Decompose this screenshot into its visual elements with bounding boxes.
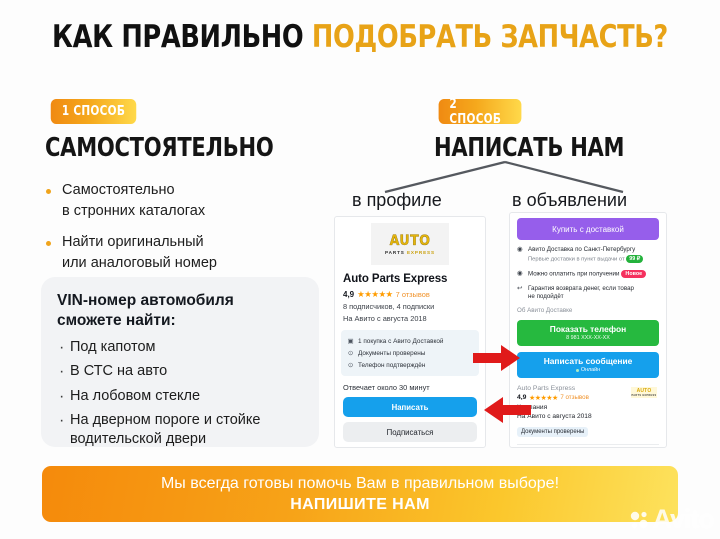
page-title-dark: КАК ПРАВИЛЬНО: [52, 19, 303, 55]
step-2-heading: НАПИСАТЬ НАМ: [434, 133, 624, 163]
trust-badge: ⊙ Телефон подтверждён: [347, 359, 473, 371]
vin-list-item: Под капотом: [57, 338, 303, 357]
reviews-link[interactable]: 7 отзывов: [396, 290, 430, 299]
seller-reviews-link[interactable]: 7 отзывов: [560, 394, 589, 401]
delivery-row: ↩ Гарантия возврата денег, если товар не…: [517, 285, 659, 301]
online-dot-icon: [576, 369, 579, 372]
member-since: На Авито с августа 2018: [343, 314, 485, 323]
ad-screenshot-card: Купить с доставкой ◉ Авито Доставка по С…: [509, 212, 667, 448]
seller-type: Компания: [517, 404, 659, 411]
vin-list-item: В СТС на авто: [57, 362, 303, 381]
rating-value: 4,9: [343, 290, 354, 299]
check-circle-icon: ⊙: [347, 350, 354, 357]
reply-time: Отвечает около 30 минут: [343, 383, 485, 392]
profile-screenshot-card: AUTO PARTS EXPRESS Auto Parts Express 4,…: [334, 216, 486, 448]
delivery-price-pill: 99 ₽: [626, 255, 643, 263]
arrow-right-icon-top: [473, 344, 521, 372]
vin-list-item: На лобовом стекле: [57, 387, 303, 406]
step-1-heading: САМОСТОЯТЕЛЬНО: [45, 133, 274, 163]
documents-verified-chip: Документы проверены: [517, 427, 588, 437]
show-phone-button[interactable]: Показать телефон 8 981 XXX-XX-XX: [517, 320, 659, 346]
about-delivery-link[interactable]: Об Авито Доставке: [517, 307, 659, 314]
shop-logo-main: AUTO: [390, 233, 431, 249]
write-button[interactable]: Написать: [343, 397, 477, 417]
trust-badges-panel: ▣ 1 покупка с Авито Доставкой ⊙ Документ…: [341, 330, 479, 376]
bullet-dot: [46, 241, 51, 246]
show-phone-label: Показать телефон: [550, 324, 626, 334]
shop-logo: AUTO PARTS EXPRESS: [371, 223, 449, 265]
seller-logo: AUTO PARTS EXPRESS: [631, 387, 657, 398]
delivery-sub: Первые доставки в пункт выдачи от: [528, 257, 625, 263]
seller-info-block: AUTO PARTS EXPRESS Auto Parts Express 4,…: [517, 385, 659, 448]
vin-info-card: VIN-номер автомобиля сможете найти: Под …: [41, 277, 319, 447]
box-icon: ▣: [347, 338, 354, 345]
cta-line-2: НАПИШИТЕ НАМ: [290, 496, 430, 514]
trust-badge: ⊙ Документы проверены: [347, 347, 473, 359]
send-message-button[interactable]: Написать сообщение Онлайн: [517, 352, 659, 378]
return-icon: ↩: [517, 285, 524, 293]
star-rating-icon: ★★★★★: [357, 289, 393, 299]
delivery-row: ◉ Авито Доставка по Санкт-Петербургу Пер…: [517, 246, 659, 264]
page-title-gold: ПОДОБРАТЬ ЗАПЧАСТЬ?: [312, 19, 668, 55]
delivery-row: ◉ Можно оплатить при полученииНовое: [517, 270, 659, 279]
vin-list-item: На дверном пороге и стойке водительской …: [57, 411, 303, 449]
shop-logo-sub: PARTS EXPRESS: [385, 250, 435, 255]
trust-badge-label: 1 покупка с Авито Доставкой: [358, 338, 443, 345]
new-pill: Новое: [621, 270, 646, 278]
sub-label-profile: в профиле: [352, 190, 442, 211]
wallet-icon: ◉: [517, 270, 524, 278]
step-1-badge: 1 СПОСОБ: [51, 99, 137, 124]
trust-badge-label: Документы проверены: [358, 350, 425, 357]
delivery-label: Авито Доставка по Санкт-Петербургу: [528, 246, 635, 253]
avito-watermark: Avito: [630, 504, 715, 535]
left-bullet-2: Найти оригинальный или аналоговый номер: [62, 232, 217, 273]
cta-banner: Мы всегда готовы помочь Вам в правильном…: [42, 466, 678, 522]
avito-dots-icon: [630, 510, 650, 530]
delivery-label: Можно оплатить при получении: [528, 271, 619, 278]
seller-member-since: На Авито с августа 2018: [517, 413, 659, 420]
subscribe-to-seller-button[interactable]: Подписаться на продавца: [517, 444, 659, 448]
delivery-label: Гарантия возврата денег, если товар не п…: [528, 285, 634, 301]
profile-rating-row: 4,9 ★★★★★ 7 отзывов: [343, 289, 485, 299]
truck-icon: ◉: [517, 246, 524, 254]
avito-wordmark: Avito: [653, 504, 715, 535]
online-status: Онлайн: [576, 367, 600, 373]
cta-line-1: Мы всегда готовы помочь Вам в правильном…: [161, 475, 559, 493]
followers-count: 8 подписчиков, 4 подписки: [343, 302, 485, 311]
poster-canvas: КАК ПРАВИЛЬНО ПОДОБРАТЬ ЗАПЧАСТЬ? 1 СПОС…: [0, 0, 720, 539]
check-circle-icon: ⊙: [347, 362, 354, 369]
phone-number: 8 981 XXX-XX-XX: [566, 335, 610, 341]
page-title: КАК ПРАВИЛЬНО ПОДОБРАТЬ ЗАПЧАСТЬ?: [29, 22, 691, 53]
vin-card-title: VIN-номер автомобиля сможете найти:: [57, 291, 303, 331]
shop-logo-sub-left: PARTS: [385, 250, 405, 255]
bullet-dot: [46, 189, 51, 194]
star-rating-icon: ★★★★★: [529, 394, 558, 402]
trust-badge: ▣ 1 покупка с Авито Доставкой: [347, 335, 473, 347]
send-message-label: Написать сообщение: [544, 356, 633, 366]
shop-logo-sub-right: EXPRESS: [407, 250, 435, 255]
follow-button[interactable]: Подписаться: [343, 422, 477, 442]
seller-logo-sub: PARTS EXPRESS: [631, 394, 656, 397]
left-bullet-1: Самостоятельно в стронних каталогах: [62, 180, 205, 221]
step-2-badge: 2 СПОСОБ: [439, 99, 522, 124]
trust-badge-label: Телефон подтверждён: [358, 362, 425, 369]
arrow-left-icon-bottom: [483, 396, 531, 424]
buy-with-delivery-button[interactable]: Купить с доставкой: [517, 218, 659, 240]
sub-label-ad: в объявлении: [512, 190, 627, 211]
shop-name: Auto Parts Express: [343, 273, 485, 285]
